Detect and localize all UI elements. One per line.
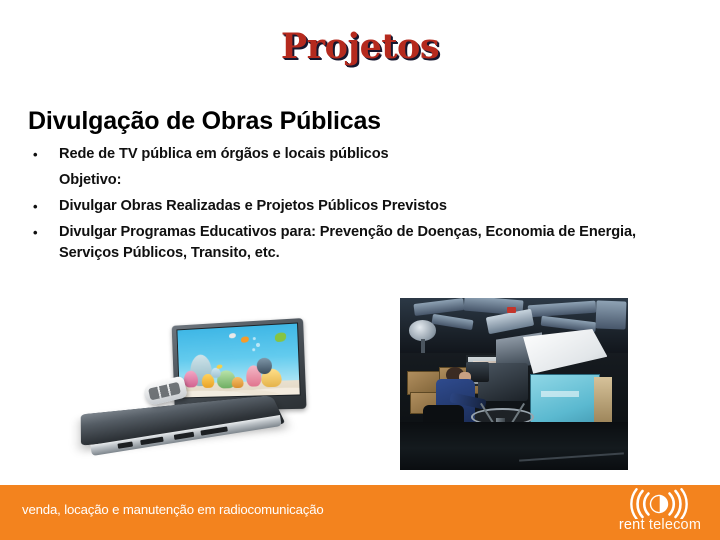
list-item-sub: • Objetivo: bbox=[28, 170, 692, 191]
player-slot bbox=[117, 441, 133, 448]
coral-shape bbox=[183, 371, 197, 388]
fish-icon bbox=[217, 364, 223, 369]
bullet-icon: • bbox=[33, 222, 37, 243]
list-item: • Divulgar Programas Educativos para: Pr… bbox=[28, 222, 692, 264]
player-slot bbox=[201, 426, 228, 435]
fish-icon bbox=[241, 336, 250, 343]
fish-icon bbox=[229, 333, 236, 339]
image-row bbox=[0, 292, 720, 482]
bubble-shape bbox=[255, 342, 259, 346]
list-item-label: Objetivo: bbox=[59, 172, 121, 188]
bullet-icon: • bbox=[33, 196, 37, 217]
lighting-rig-bar bbox=[596, 301, 627, 330]
list-item-label: Divulgar Programas Educativos para: Prev… bbox=[59, 224, 636, 261]
footer-bar: venda, locação e manutenção em radiocomu… bbox=[0, 485, 720, 540]
bubble-shape bbox=[252, 348, 255, 351]
body-text-block: Divulgação de Obras Públicas • Rede de T… bbox=[28, 106, 692, 269]
brand-name: rent telecom bbox=[612, 517, 708, 533]
flat-panel-tv-with-media-player-image bbox=[82, 322, 318, 467]
slide-canvas: Projetos Divulgação de Obras Públicas • … bbox=[0, 0, 720, 540]
list-item: • Rede de TV pública em órgãos e locais … bbox=[28, 144, 692, 165]
studio-floor bbox=[400, 422, 628, 470]
brand-name-second: telecom bbox=[649, 517, 701, 533]
list-item: • Divulgar Obras Realizadas e Projetos P… bbox=[28, 196, 692, 217]
list-item-label: Divulgar Obras Realizadas e Projetos Púb… bbox=[59, 198, 447, 214]
brand-logo: rent telecom bbox=[612, 488, 708, 538]
brand-name-first: rent bbox=[619, 517, 645, 533]
television-screen bbox=[176, 322, 300, 398]
fish-icon bbox=[275, 332, 287, 342]
coral-shape bbox=[211, 368, 221, 378]
bubble-shape bbox=[253, 337, 256, 340]
player-slot bbox=[174, 432, 194, 440]
section-heading: Divulgação de Obras Públicas bbox=[28, 106, 692, 136]
coral-shape bbox=[231, 376, 243, 388]
player-slot bbox=[140, 437, 164, 446]
bullet-icon: • bbox=[33, 144, 37, 165]
list-item-label: Rede de TV pública em órgãos e locais pú… bbox=[59, 146, 389, 162]
footer-tagline: venda, locação e manutenção em radiocomu… bbox=[22, 502, 324, 517]
television-set bbox=[172, 318, 307, 411]
radio-waves-icon bbox=[626, 488, 692, 519]
bullet-list: • Rede de TV pública em órgãos e locais … bbox=[28, 144, 692, 264]
page-title: Projetos bbox=[0, 26, 720, 68]
rig-marker bbox=[507, 307, 516, 314]
tv-studio-camera-operator-image bbox=[400, 298, 628, 470]
remote-buttons bbox=[148, 382, 181, 401]
